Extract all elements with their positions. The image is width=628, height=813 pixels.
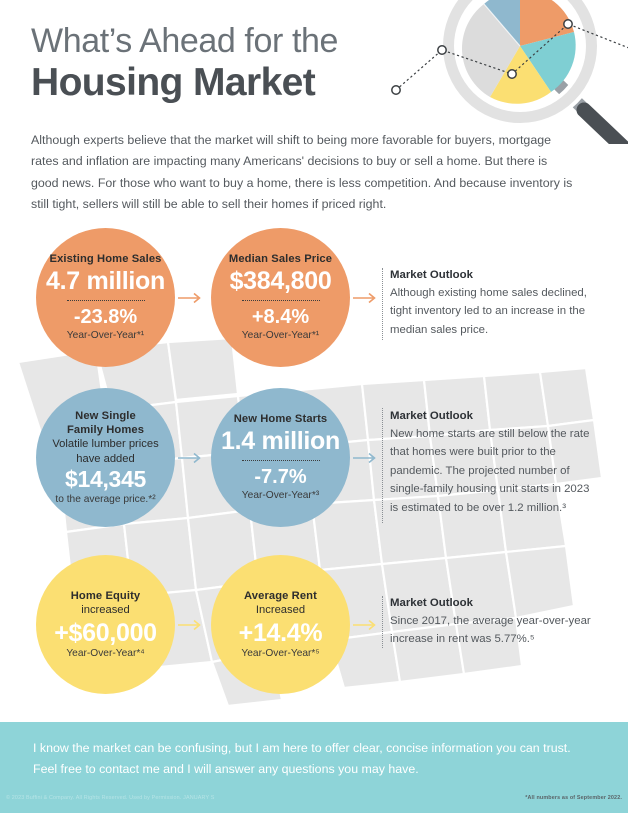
bubble-note: Year-Over-Year*¹	[67, 329, 144, 342]
outlook-divider	[382, 408, 383, 523]
title-line-2: Housing Market	[31, 61, 451, 105]
outlook-divider	[382, 596, 383, 648]
bubble-primary-value: 4.7 million	[46, 267, 165, 295]
bubble-heading: New Single Family Homes	[67, 409, 144, 437]
arrow-right-icon	[178, 452, 204, 464]
bubble-secondary-value: +8.4%	[252, 306, 309, 329]
outlook-title: Market Outlook	[390, 597, 600, 609]
contact-banner: I know the market can be confusing, but …	[0, 722, 628, 792]
bubble-heading: Existing Home Sales	[50, 252, 162, 266]
outlook-body: Although existing home sales declined, t…	[390, 284, 600, 339]
divider	[242, 460, 320, 461]
bubble-heading: New Home Starts	[234, 412, 328, 426]
stat-bubble: Home Equity increased +$60,000 Year-Over…	[36, 555, 175, 694]
stat-row: Home Equity increased +$60,000 Year-Over…	[0, 555, 628, 695]
bubble-secondary-value: -7.7%	[254, 466, 306, 489]
banner-text: I know the market can be confusing, but …	[33, 738, 595, 781]
bubble-subtext: Volatile lumber prices have added	[52, 437, 158, 466]
intro-paragraph: Although experts believe that the market…	[31, 130, 576, 215]
page-title: What’s Ahead for the Housing Market	[31, 22, 451, 105]
bubble-primary-value: $384,800	[230, 267, 332, 295]
market-outlook: Market Outlook Since 2017, the average y…	[390, 597, 600, 649]
market-outlook: Market Outlook Although existing home sa…	[390, 269, 600, 339]
outlook-divider	[382, 268, 383, 340]
bubble-heading: Median Sales Price	[229, 252, 332, 266]
outlook-title: Market Outlook	[390, 269, 600, 281]
arrow-right-icon	[178, 619, 204, 631]
arrow-right-icon	[178, 292, 204, 304]
bubble-primary-value: +$60,000	[54, 619, 157, 647]
stat-bubble: New Single Family Homes Volatile lumber …	[36, 388, 175, 527]
copyright-text: © 2023 Buffini & Company. All Rights Res…	[6, 795, 215, 801]
pie-chart	[462, 0, 576, 104]
numbers-source-note: *All numbers as of September 2022.	[525, 795, 622, 801]
footer-bar: © 2023 Buffini & Company. All Rights Res…	[0, 792, 628, 813]
stat-bubble: New Home Starts 1.4 million -7.7% Year-O…	[211, 388, 350, 527]
arrow-right-icon	[353, 292, 379, 304]
outlook-body: Since 2017, the average year-over-year i…	[390, 612, 600, 649]
stat-bubble: Median Sales Price $384,800 +8.4% Year-O…	[211, 228, 350, 367]
bubble-primary-value: $14,345	[65, 467, 146, 493]
divider	[67, 300, 145, 301]
bubble-heading: Average Rent	[244, 589, 317, 603]
stat-row: Existing Home Sales 4.7 million -23.8% Y…	[0, 228, 628, 368]
bubble-note: Year-Over-Year*⁵	[241, 647, 319, 660]
outlook-body: New home starts are still below the rate…	[390, 425, 600, 517]
arrow-right-icon	[353, 619, 379, 631]
bubble-note: Year-Over-Year*¹	[242, 329, 319, 342]
bubble-secondary-value: -23.8%	[74, 306, 137, 329]
bubble-note: Year-Over-Year*⁴	[66, 647, 144, 660]
bubble-primary-value: +14.4%	[239, 619, 323, 647]
header: What’s Ahead for the Housing Market Alth…	[0, 0, 628, 222]
bubble-note: Year-Over-Year*³	[242, 489, 319, 502]
stat-bubble: Average Rent Increased +14.4% Year-Over-…	[211, 555, 350, 694]
bubble-subtext: Increased	[256, 603, 305, 618]
bubble-primary-value: 1.4 million	[221, 427, 340, 455]
bubble-subtext: increased	[81, 603, 130, 618]
bubble-heading: Home Equity	[71, 589, 140, 603]
outlook-title: Market Outlook	[390, 410, 600, 422]
stat-row: New Single Family Homes Volatile lumber …	[0, 388, 628, 528]
arrow-right-icon	[353, 452, 379, 464]
market-outlook: Market Outlook New home starts are still…	[390, 410, 600, 517]
title-line-1: What’s Ahead for the	[31, 22, 451, 60]
divider	[242, 300, 320, 301]
bubble-note: to the average price.*²	[55, 493, 155, 506]
stat-bubble: Existing Home Sales 4.7 million -23.8% Y…	[36, 228, 175, 367]
